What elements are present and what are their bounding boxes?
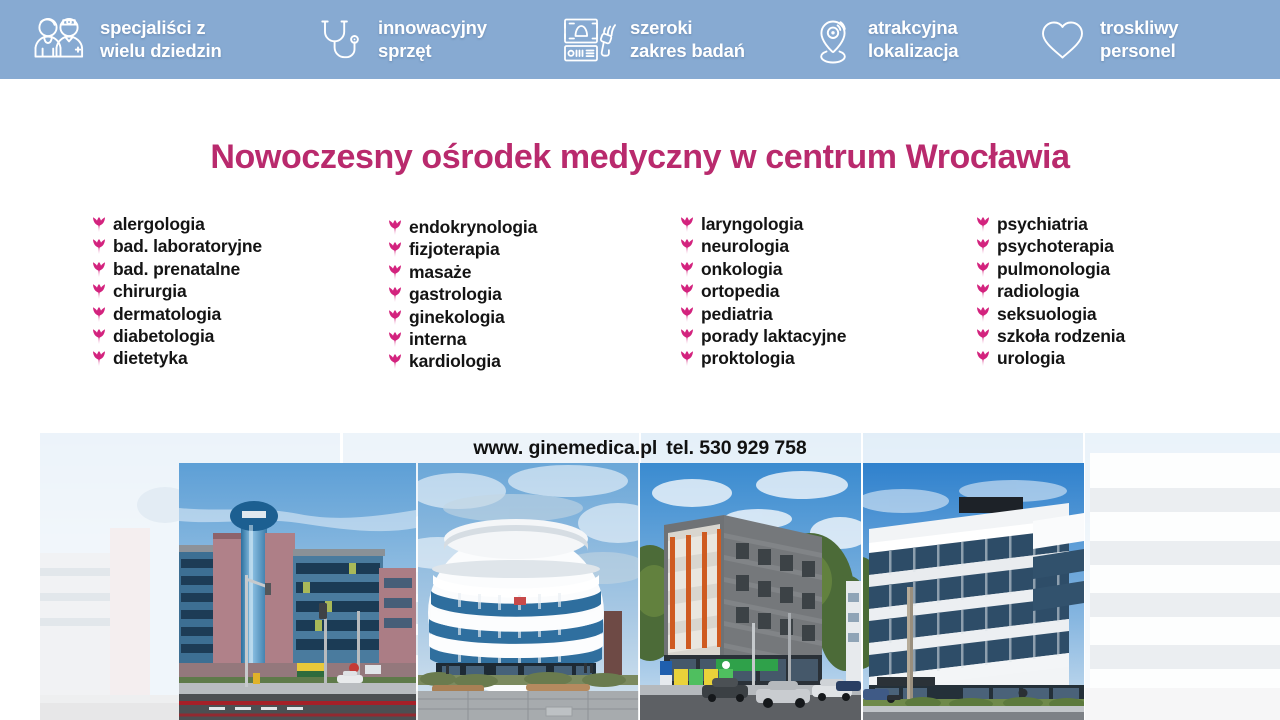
feature-label: specjaliści z wielu dziedzin (100, 17, 222, 62)
service-item[interactable]: seksuologia (976, 304, 1125, 326)
service-item[interactable]: pediatria (680, 304, 846, 326)
gallery-strip (0, 433, 1280, 720)
stethoscope-icon (316, 15, 366, 65)
service-label: diabetologia (113, 326, 214, 347)
service-item[interactable]: urologia (976, 348, 1125, 370)
phone-number[interactable]: tel. 530 929 758 (666, 437, 806, 459)
contact-line: www. ginemedica.pltel. 530 929 758 (0, 437, 1280, 460)
service-label: alergologia (113, 214, 205, 235)
service-item[interactable]: proktologia (680, 348, 846, 370)
service-label: pediatria (701, 304, 773, 325)
service-item[interactable]: psychoterapia (976, 236, 1125, 258)
tulip-bullet-icon (388, 332, 402, 347)
white-office-building-with-dark-glass-bands (863, 463, 1084, 720)
location-pin-icon (812, 15, 856, 65)
page-title: Nowoczesny ośrodek medyczny w centrum Wr… (0, 138, 1280, 177)
service-label: psychoterapia (997, 236, 1114, 257)
service-item[interactable]: psychiatria (976, 214, 1125, 236)
service-item[interactable]: ortopedia (680, 281, 846, 303)
service-label: gastrologia (409, 284, 502, 305)
services-column: psychiatria psychoterapia pulmonologia r… (976, 214, 1125, 371)
service-label: szkoła rodzenia (997, 326, 1125, 347)
features-banner: specjaliści z wielu dziedzin innowacyjny… (0, 0, 1280, 79)
tulip-bullet-icon (92, 239, 106, 254)
tulip-bullet-icon (976, 217, 990, 232)
service-label: radiologia (997, 281, 1079, 302)
service-label: neurologia (701, 236, 789, 257)
service-label: pulmonologia (997, 259, 1110, 280)
service-item[interactable]: bad. prenatalne (92, 259, 262, 281)
ultrasound-machine-icon (560, 13, 618, 67)
feature-item-staff: troskliwy personel (1028, 0, 1278, 79)
service-item[interactable]: onkologia (680, 259, 846, 281)
feature-item-equipment: innowacyjny sprzęt (298, 0, 550, 79)
gallery-photo-faded (1085, 433, 1280, 720)
service-item[interactable]: pulmonologia (976, 259, 1125, 281)
service-item[interactable]: chirurgia (92, 281, 262, 303)
tulip-bullet-icon (680, 239, 694, 254)
tulip-bullet-icon (92, 351, 106, 366)
tulip-bullet-icon (388, 354, 402, 369)
service-label: fizjoterapia (409, 239, 500, 260)
service-label: endokrynologia (409, 217, 537, 238)
feature-label: innowacyjny sprzęt (378, 17, 487, 62)
tulip-bullet-icon (680, 307, 694, 322)
tulip-bullet-icon (680, 217, 694, 232)
service-item[interactable]: masaże (388, 262, 537, 284)
tulip-bullet-icon (680, 329, 694, 344)
heart-icon (1038, 16, 1088, 64)
gallery-photo[interactable] (863, 463, 1084, 720)
tulip-bullet-icon (388, 220, 402, 235)
grey-brick-apartment-block-with-orange-balconies (640, 463, 861, 720)
service-item[interactable]: porady laktacyjne (680, 326, 846, 348)
service-label: dermatologia (113, 304, 221, 325)
feature-label: troskliwy personel (1100, 17, 1178, 62)
feature-label: atrakcyjna lokalizacja (868, 17, 958, 62)
tulip-bullet-icon (388, 265, 402, 280)
service-item[interactable]: kardiologia (388, 351, 537, 373)
service-item[interactable]: dietetyka (92, 348, 262, 370)
tulip-bullet-icon (92, 284, 106, 299)
service-label: kardiologia (409, 351, 501, 372)
service-label: onkologia (701, 259, 782, 280)
tulip-bullet-icon (680, 262, 694, 277)
service-label: urologia (997, 348, 1065, 369)
pink-granite-office-with-blue-glass-tower (179, 463, 416, 720)
tulip-bullet-icon (388, 242, 402, 257)
service-item[interactable]: alergologia (92, 214, 262, 236)
gallery-photo[interactable] (640, 463, 861, 720)
service-item[interactable]: neurologia (680, 236, 846, 258)
service-item[interactable]: fizjoterapia (388, 239, 537, 261)
service-label: bad. laboratoryjne (113, 236, 262, 257)
feature-item-location: atrakcyjna lokalizacja (800, 0, 1028, 79)
tulip-bullet-icon (976, 329, 990, 344)
service-label: masaże (409, 262, 471, 283)
service-item[interactable]: radiologia (976, 281, 1125, 303)
service-label: interna (409, 329, 466, 350)
service-item[interactable]: gastrologia (388, 284, 537, 306)
service-item[interactable]: szkoła rodzenia (976, 326, 1125, 348)
tulip-bullet-icon (976, 307, 990, 322)
services-column: alergologia bad. laboratoryjne bad. pren… (92, 214, 262, 371)
service-item[interactable]: interna (388, 329, 537, 351)
services-column: endokrynologia fizjoterapia masaże gastr… (388, 217, 537, 374)
tulip-bullet-icon (388, 287, 402, 302)
tulip-bullet-icon (92, 262, 106, 277)
service-label: laryngologia (701, 214, 803, 235)
white-office-building-with-dark-glass-bands (1085, 433, 1280, 720)
service-label: porady laktacyjne (701, 326, 846, 347)
feature-item-specialists: specjaliści z wielu dziedzin (0, 0, 298, 79)
service-label: seksuologia (997, 304, 1097, 325)
tulip-bullet-icon (680, 351, 694, 366)
service-label: proktologia (701, 348, 795, 369)
tulip-bullet-icon (388, 310, 402, 325)
services-column: laryngologia neurologia onkologia ortope… (680, 214, 846, 371)
services-columns: alergologia bad. laboratoryjne bad. pren… (0, 214, 1280, 384)
service-item[interactable]: bad. laboratoryjne (92, 236, 262, 258)
tulip-bullet-icon (976, 262, 990, 277)
gallery-photo[interactable] (418, 463, 638, 720)
website-link[interactable]: www. ginemedica.pl (473, 437, 657, 459)
service-item[interactable]: laryngologia (680, 214, 846, 236)
tulip-bullet-icon (92, 217, 106, 232)
tulip-bullet-icon (976, 239, 990, 254)
tulip-bullet-icon (92, 307, 106, 322)
service-item[interactable]: dermatologia (92, 304, 262, 326)
service-label: ginekologia (409, 307, 505, 328)
white-oval-modern-building-ovo (418, 463, 638, 720)
service-label: bad. prenatalne (113, 259, 240, 280)
tulip-bullet-icon (680, 284, 694, 299)
two-doctors-icon (30, 15, 88, 65)
feature-label: szeroki zakres badań (630, 17, 745, 62)
tulip-bullet-icon (976, 351, 990, 366)
service-label: ortopedia (701, 281, 779, 302)
tulip-bullet-icon (976, 284, 990, 299)
service-label: dietetyka (113, 348, 188, 369)
service-label: chirurgia (113, 281, 187, 302)
feature-item-scope-of-tests: szeroki zakres badań (550, 0, 800, 79)
gallery-photo[interactable] (179, 463, 416, 720)
service-item[interactable]: endokrynologia (388, 217, 537, 239)
service-label: psychiatria (997, 214, 1088, 235)
service-item[interactable]: diabetologia (92, 326, 262, 348)
service-item[interactable]: ginekologia (388, 307, 537, 329)
tulip-bullet-icon (92, 329, 106, 344)
